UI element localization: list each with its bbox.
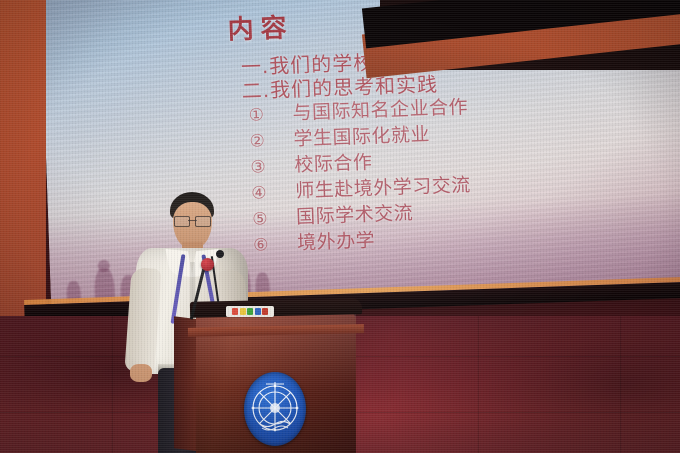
maritime-college-ships-wheel-emblem-icon	[244, 372, 306, 446]
list-item-label: 学生国际化就业	[293, 119, 430, 151]
presentation-photo: 浙江国际海运职业技术学院 Zhejiang International Mari…	[0, 0, 680, 453]
list-item-number: ③	[250, 156, 295, 178]
slide-list-item: ⑤ 国际学术交流	[252, 198, 414, 231]
slide-title: 内容	[227, 7, 294, 46]
podium-sponsor-sticker	[226, 306, 274, 317]
podium	[196, 300, 356, 453]
list-item-label: 校际合作	[294, 148, 373, 178]
list-item-number: ①	[248, 104, 293, 126]
speaker-hand-left	[130, 364, 152, 382]
list-item-label: 境外办学	[297, 225, 376, 255]
list-item-number: ②	[249, 130, 294, 152]
eyeglasses-icon	[174, 216, 211, 225]
microphone-icon	[201, 258, 214, 271]
microphone-secondary-icon	[216, 250, 224, 258]
list-item-label: 国际学术交流	[296, 198, 414, 229]
slide-list-item: ⑥ 境外办学	[253, 225, 376, 256]
wall-left-panel	[0, 0, 46, 330]
